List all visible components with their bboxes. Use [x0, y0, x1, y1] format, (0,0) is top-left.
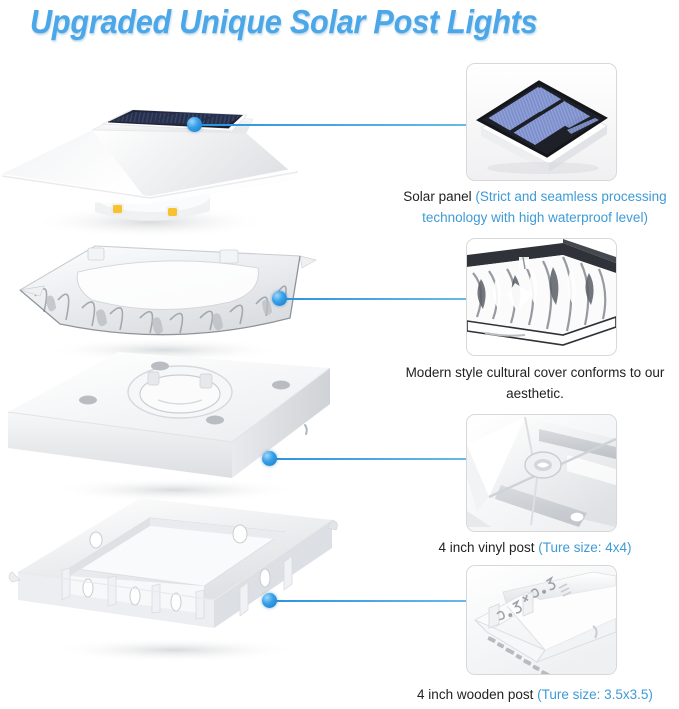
thumbnail-panel-solar-panel [466, 63, 617, 181]
leader-line-solar-panel [197, 124, 466, 126]
tab-right [523, 592, 533, 616]
vinyl-post-thumb-svg [467, 415, 616, 531]
thumbnail-panel-cultural-cover [466, 238, 617, 356]
callout-dot-wooden-post [262, 593, 277, 608]
frame-cutout-5 [233, 525, 247, 543]
part-crystal-cultural-cover [20, 246, 316, 362]
infographic-canvas: Upgraded Unique Solar Post Lights [0, 0, 679, 704]
caption-vinyl-post-main: 4 inch vinyl post [438, 540, 538, 555]
part-post-adapter-frame [9, 498, 337, 662]
wooden-post-thumb-svg [467, 566, 616, 674]
leader-line-vinyl-post [272, 458, 466, 460]
screw-hole-4 [272, 381, 290, 390]
caption-cultural-cover-main: Modern style cultural cover conforms to … [406, 365, 665, 401]
frame-cutout-6 [90, 532, 102, 548]
callout-dot-vinyl-post [262, 451, 277, 466]
thumbnail-panel-vinyl-post [466, 414, 617, 532]
callout-dot-solar-panel [187, 117, 202, 132]
screw-hole-2 [79, 396, 97, 405]
leader-line-wooden-post [272, 600, 466, 602]
thumbnail-panel-wooden-post [466, 565, 617, 675]
part-white-base-plate [8, 352, 330, 502]
exploded-view-svg [0, 0, 470, 704]
exploded-product-illustration [0, 0, 470, 704]
caption-solar-panel: Solar panel (Strict and seamless process… [393, 186, 677, 228]
caption-wooden-post-main: 4 inch wooden post [417, 687, 537, 702]
caption-wooden-post-highlight: (Ture size: 3.5x3.5) [537, 687, 653, 702]
caption-wooden-post: 4 inch wooden post (Ture size: 3.5x3.5) [393, 684, 677, 705]
led-chip-left [113, 205, 122, 213]
frame-cutout-4 [260, 569, 270, 587]
part-top-cap-with-solar-panel [2, 110, 298, 238]
tab-left [489, 604, 499, 628]
caption-vinyl-post: 4 inch vinyl post (Ture size: 4x4) [393, 537, 677, 558]
leader-line-cultural-cover [282, 298, 466, 300]
screw-hole-1 [151, 362, 169, 371]
frame-cutout-3 [171, 593, 181, 611]
screw-hole-3 [206, 416, 224, 425]
callout-dot-cultural-cover [272, 291, 287, 306]
led-chip-right [168, 208, 177, 216]
cultural-cover-thumb-svg [467, 239, 616, 355]
caption-solar-panel-main: Solar panel [403, 189, 475, 204]
solar-panel-thumb-svg [467, 64, 616, 180]
caption-cultural-cover: Modern style cultural cover conforms to … [393, 362, 677, 404]
caption-vinyl-post-highlight: (Ture size: 4x4) [538, 540, 631, 555]
